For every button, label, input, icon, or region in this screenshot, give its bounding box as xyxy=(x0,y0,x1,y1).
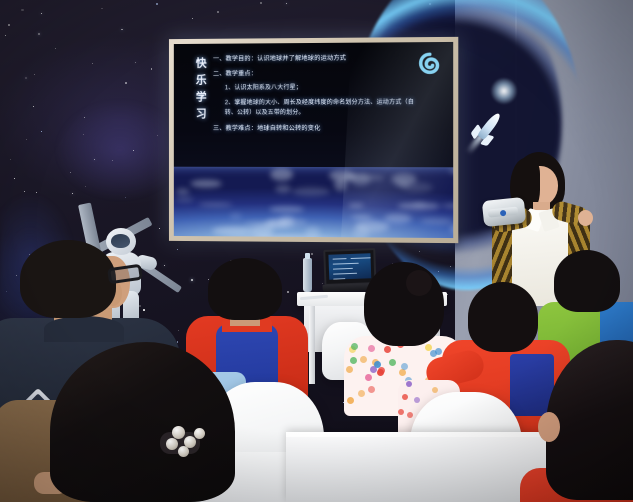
sun-flare-mural xyxy=(491,78,517,104)
handheld-demo-device[interactable] xyxy=(482,197,526,227)
screen-glare xyxy=(339,42,453,238)
girl-ponytail-red-coat xyxy=(546,340,633,502)
vtitle-char-3: 学 xyxy=(191,89,211,106)
wall-display[interactable]: 快 乐 学 习 一、教学目的：认识地球并了解地球的运动方式 二、教学重点： 1、… xyxy=(169,37,458,243)
eyeglasses xyxy=(107,264,143,285)
vtitle-char-1: 快 xyxy=(191,56,211,73)
screenshot-root: 快 乐 学 习 一、教学目的：认识地球并了解地球的运动方式 二、教学重点： 1、… xyxy=(0,0,633,502)
vtitle-char-2: 乐 xyxy=(191,73,211,90)
girl-with-pearl-hairtie xyxy=(50,342,235,502)
slide-vertical-title: 快 乐 学 习 xyxy=(191,56,211,123)
display-screen: 快 乐 学 习 一、教学目的：认识地球并了解地球的运动方式 二、教学重点： 1、… xyxy=(174,42,453,238)
device-indicator xyxy=(500,210,507,217)
vtitle-char-4: 习 xyxy=(191,106,211,123)
